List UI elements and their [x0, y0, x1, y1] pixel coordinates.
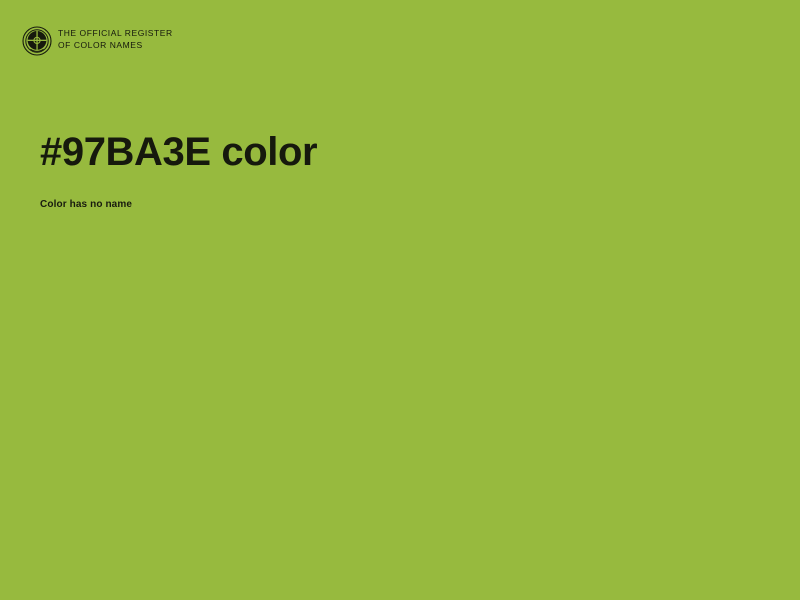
masthead[interactable]: THE OFFICIAL REGISTER OF COLOR NAMES	[22, 26, 173, 56]
masthead-wordmark: THE OFFICIAL REGISTER OF COLOR NAMES	[58, 28, 173, 51]
color-name-status: Color has no name	[40, 176, 740, 211]
page-title: #97BA3E color	[40, 128, 740, 176]
masthead-line-2: OF COLOR NAMES	[58, 40, 173, 52]
color-info-block: #97BA3E color Color has no name	[40, 128, 740, 211]
masthead-line-1: THE OFFICIAL REGISTER	[58, 28, 173, 40]
color-page: THE OFFICIAL REGISTER OF COLOR NAMES #97…	[0, 0, 800, 600]
register-seal-icon	[22, 26, 52, 56]
